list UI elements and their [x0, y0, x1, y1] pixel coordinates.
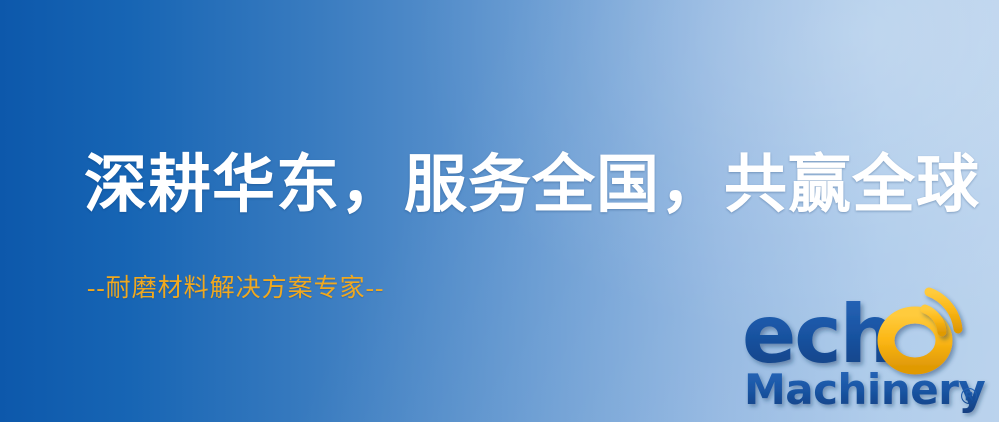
page-title: 深耕华东，服务全国，共赢全球 [84, 152, 980, 218]
page-subtitle: --耐磨材料解决方案专家-- [87, 268, 384, 304]
registered-trademark-icon: ® [958, 385, 980, 410]
logo-tagline-text: Machinery [744, 365, 985, 414]
logo-tagline-machinery: Machinery ® [744, 362, 996, 418]
company-logo[interactable]: ech [742, 296, 994, 422]
hero-banner: 深耕华东，服务全国，共赢全球 --耐磨材料解决方案专家-- [0, 0, 999, 422]
